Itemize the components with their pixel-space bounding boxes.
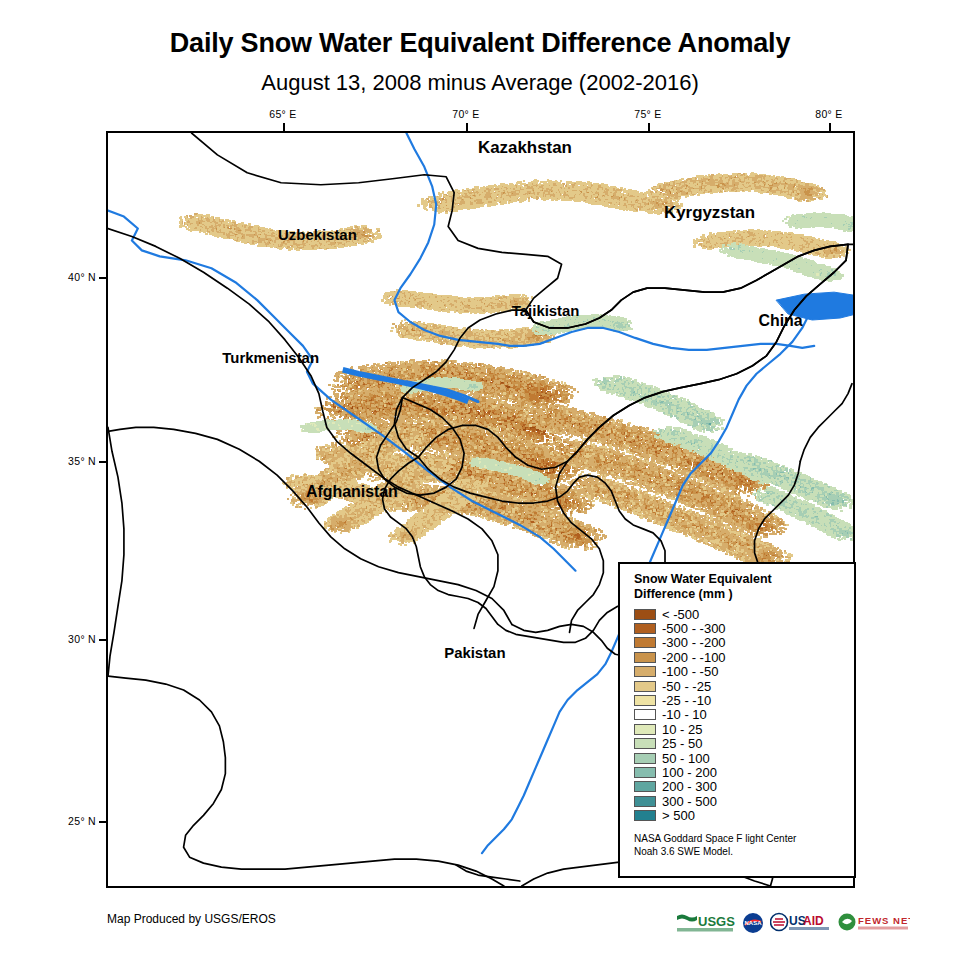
legend-class-label: 25 - 50 [662, 737, 702, 750]
legend-class-label: 100 - 200 [662, 766, 717, 779]
legend-color-swatch [634, 781, 656, 792]
legend-title-line1: Snow Water Equivalent [634, 572, 854, 587]
legend-class-label: < -500 [662, 608, 699, 621]
legend-color-swatch [634, 738, 656, 749]
country-label: Tajikistan [512, 302, 580, 319]
country-label: Kazakhstan [478, 138, 572, 157]
legend-source-line1: NASA Goddard Space F light Center [634, 832, 854, 845]
latitude-tick-label: 30° N [62, 633, 96, 645]
legend-source-line2: Noah 3.6 SWE Model. [634, 845, 854, 858]
latitude-tick-label: 35° N [62, 455, 96, 467]
map-legend[interactable]: Snow Water Equivalent Difference (mm ) <… [618, 562, 856, 878]
legend-class-row[interactable]: 200 - 300 [634, 780, 854, 794]
longitude-tick-label: 80° E [815, 108, 842, 120]
country-label: China [759, 312, 803, 329]
legend-class-label: -300 - -200 [662, 636, 726, 649]
svg-text:USGS: USGS [698, 914, 735, 929]
page-subtitle: August 13, 2008 minus Average (2002-2016… [0, 70, 960, 96]
legend-color-swatch [634, 637, 656, 648]
legend-class-row[interactable]: -500 - -300 [634, 621, 854, 635]
longitude-tick [829, 123, 831, 131]
agency-logos: USGS NASA US AID FEWS NET [676, 908, 910, 938]
legend-class-row[interactable]: -50 - -25 [634, 679, 854, 693]
legend-color-swatch [634, 652, 656, 663]
legend-class-label: > 500 [662, 809, 695, 822]
longitude-tick-label: 70° E [452, 108, 479, 120]
legend-color-swatch [634, 767, 656, 778]
country-label: Kyrgyzstan [664, 203, 755, 222]
fewsnet-logo[interactable]: FEWS NET [838, 912, 910, 934]
latitude-tick-label: 40° N [62, 271, 96, 283]
legend-color-swatch [634, 810, 656, 821]
legend-color-swatch [634, 623, 656, 634]
legend-class-label: -50 - -25 [662, 680, 711, 693]
legend-class-label: -100 - -50 [662, 665, 718, 678]
legend-class-label: 300 - 500 [662, 795, 717, 808]
legend-class-row[interactable]: -25 - -10 [634, 693, 854, 707]
country-label: Uzbekistan [278, 226, 357, 243]
longitude-tick [283, 123, 285, 131]
legend-class-row[interactable]: -300 - -200 [634, 636, 854, 650]
longitude-tick [648, 123, 650, 131]
nasa-logo[interactable]: NASA [742, 912, 764, 934]
legend-color-swatch [634, 609, 656, 620]
legend-class-label: 200 - 300 [662, 780, 717, 793]
legend-color-swatch [634, 753, 656, 764]
usgs-logo[interactable]: USGS [676, 912, 736, 934]
legend-class-row[interactable]: -10 - 10 [634, 708, 854, 722]
svg-text:NASA: NASA [744, 920, 762, 926]
legend-class-row[interactable]: 25 - 50 [634, 737, 854, 751]
longitude-tick-label: 65° E [269, 108, 296, 120]
legend-class-label: -10 - 10 [662, 708, 707, 721]
legend-color-swatch [634, 709, 656, 720]
country-label: Pakistan [444, 644, 505, 661]
legend-class-label: 10 - 25 [662, 723, 702, 736]
legend-color-swatch [634, 796, 656, 807]
legend-color-swatch [634, 666, 656, 677]
svg-text:AID: AID [803, 914, 824, 928]
legend-class-row[interactable]: < -500 [634, 607, 854, 621]
country-label: Afghanistan [306, 483, 398, 500]
legend-class-label: -25 - -10 [662, 694, 711, 707]
legend-class-row[interactable]: -100 - -50 [634, 665, 854, 679]
svg-text:FEWS NET: FEWS NET [858, 915, 910, 926]
legend-color-swatch [634, 695, 656, 706]
legend-class-label: -200 - -100 [662, 651, 726, 664]
legend-class-row[interactable]: -200 - -100 [634, 650, 854, 664]
legend-class-row[interactable]: 10 - 25 [634, 722, 854, 736]
legend-class-row[interactable]: 300 - 500 [634, 794, 854, 808]
legend-class-label: -500 - -300 [662, 622, 726, 635]
map-credit: Map Produced by USGS/EROS [107, 912, 276, 926]
legend-color-swatch [634, 681, 656, 692]
legend-class-label: 50 - 100 [662, 752, 710, 765]
usaid-logo[interactable]: US AID [770, 912, 832, 934]
legend-title: Snow Water Equivalent Difference (mm ) [634, 572, 854, 602]
legend-class-row[interactable]: 50 - 100 [634, 751, 854, 765]
longitude-tick-label: 75° E [634, 108, 661, 120]
legend-class-row[interactable]: 100 - 200 [634, 765, 854, 779]
legend-class-row[interactable]: > 500 [634, 808, 854, 822]
country-label: Turkmenistan [222, 349, 319, 366]
legend-title-line2: Difference (mm ) [634, 587, 854, 602]
legend-class-list: < -500-500 - -300-300 - -200-200 - -100-… [634, 607, 854, 823]
legend-source-note: NASA Goddard Space F light Center Noah 3… [634, 832, 854, 858]
latitude-tick-label: 25° N [62, 815, 96, 827]
legend-color-swatch [634, 724, 656, 735]
page-title: Daily Snow Water Equivalent Difference A… [0, 28, 960, 59]
longitude-tick [466, 123, 468, 131]
